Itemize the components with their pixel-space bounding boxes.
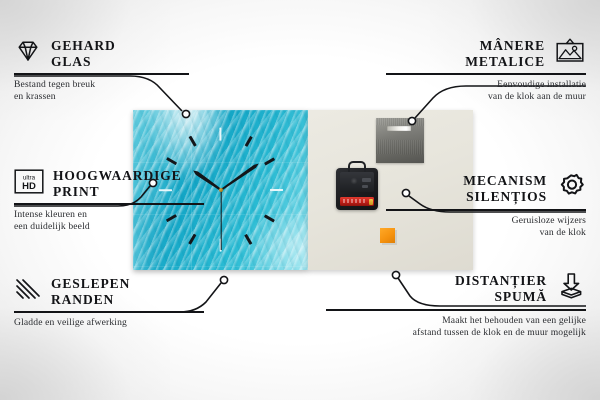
feature-title-line1: MECANISM xyxy=(463,173,547,189)
second-hand xyxy=(220,190,221,250)
feature-sub-line1: Maakt het behouden van een gelijke xyxy=(326,315,586,327)
feature-divider xyxy=(326,309,586,311)
clock-mechanism xyxy=(336,168,378,210)
feature-sub-line2: afstand tussen de klok en de muur mogeli… xyxy=(326,327,586,339)
feature-title-line1: GEHARD xyxy=(51,38,116,54)
feature-divider xyxy=(14,311,204,313)
clock-center-pin xyxy=(219,188,223,192)
gear-icon xyxy=(556,172,586,205)
battery-positive-tip xyxy=(369,199,373,205)
battery xyxy=(340,197,374,206)
mechanism-hanging-loop xyxy=(348,161,366,172)
feature-sub-line1: Eenvoudige installatie xyxy=(386,79,586,91)
diagonal-lines-icon xyxy=(14,277,42,306)
picture-frame-icon xyxy=(554,38,586,69)
hanger-keyhole-slot xyxy=(387,126,411,131)
feature-title-line2: GLAS xyxy=(51,54,116,70)
feature-foam-spacer: DISTANȚIER SPUMĂ Maakt het behouden van … xyxy=(326,272,586,339)
feature-metal-handles: MÂNERE METALICE Eenvoudige installatie v… xyxy=(386,38,586,103)
feature-divider xyxy=(386,209,586,211)
feature-sub-line1: Intense kleuren en xyxy=(14,209,204,221)
feature-sub-line1: Gladde en veilige afwerking xyxy=(14,317,204,329)
feature-tempered-glass: GEHARD GLAS Bestand tegen breuk en krass… xyxy=(14,38,189,103)
feature-title-line2: PRINT xyxy=(53,184,182,200)
hour-marker xyxy=(219,128,221,141)
svg-text:HD: HD xyxy=(22,181,36,192)
metal-hanger-plate xyxy=(376,118,424,163)
feature-title-line2: METALICE xyxy=(465,54,545,70)
diamond-icon xyxy=(14,39,42,68)
feature-sub-line2: en krassen xyxy=(14,91,189,103)
feature-high-quality-print: ultra HD HOOGWAARDIGE PRINT Intense kleu… xyxy=(14,168,204,233)
feature-title-line2: SPUMĂ xyxy=(455,289,547,305)
hour-marker xyxy=(270,189,283,191)
infographic-canvas: GEHARD GLAS Bestand tegen breuk en krass… xyxy=(0,0,600,400)
feature-silent-mechanism: MECANISM SILENȚIOS Geruisloze wijzers va… xyxy=(386,172,586,239)
feature-sub-line1: Bestand tegen breuk xyxy=(14,79,189,91)
feature-sub-line2: van de klok xyxy=(386,227,586,239)
feature-title-line2: RANDEN xyxy=(51,292,130,308)
feature-title-line1: HOOGWAARDIGE xyxy=(53,168,182,184)
feature-title-line1: DISTANȚIER xyxy=(455,273,547,289)
feature-divider xyxy=(14,73,189,75)
ultra-hd-icon: ultra HD xyxy=(14,169,44,199)
mechanism-housing xyxy=(340,172,374,192)
feature-sub-line2: een duidelijk beeld xyxy=(14,221,204,233)
feature-sub-line1: Geruisloze wijzers xyxy=(386,215,586,227)
feature-ground-edges: GESLEPEN RANDEN Gladde en veilige afwerk… xyxy=(14,276,204,329)
feature-title-line1: GESLEPEN xyxy=(51,276,130,292)
down-arrow-layer-icon xyxy=(556,272,586,305)
feature-divider xyxy=(14,203,204,205)
feature-divider xyxy=(386,73,586,75)
feature-sub-line2: van de klok aan de muur xyxy=(386,91,586,103)
feature-title-line2: SILENȚIOS xyxy=(463,189,547,205)
feature-title-line1: MÂNERE xyxy=(465,38,545,54)
